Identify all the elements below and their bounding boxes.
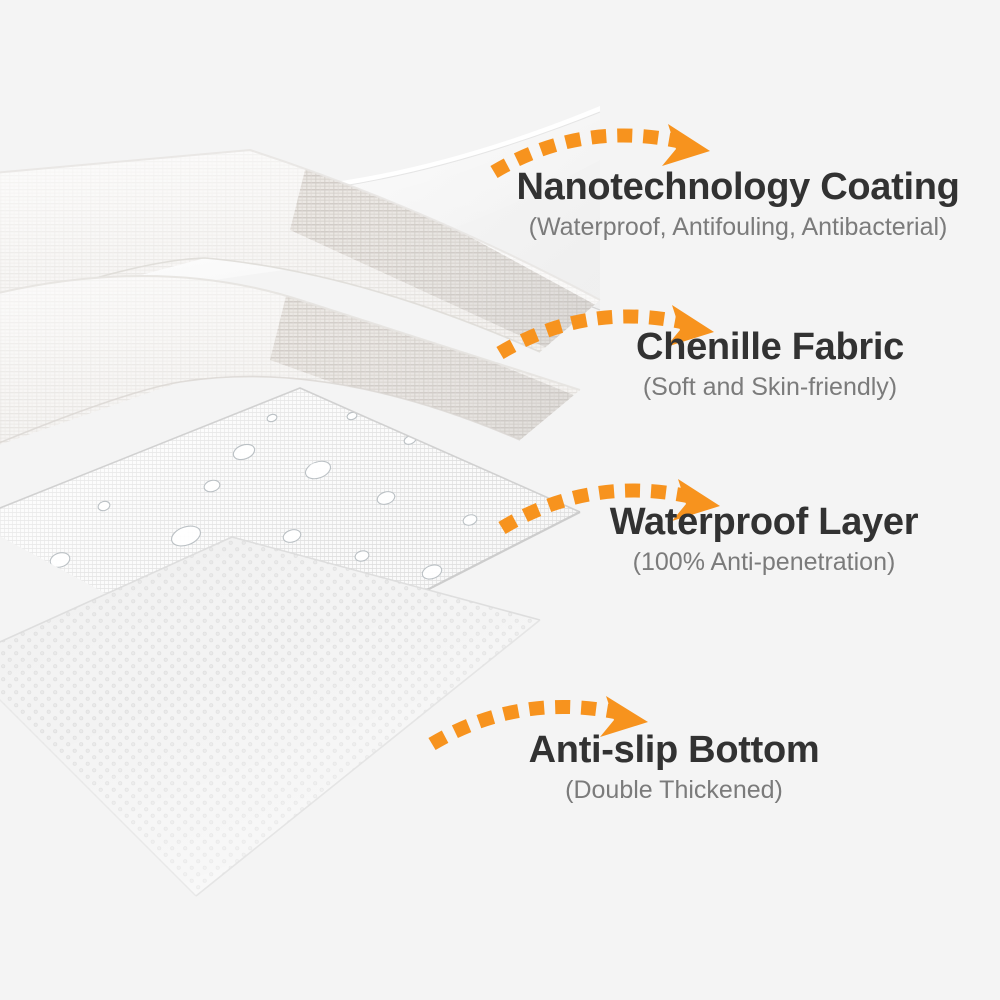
annotation-waterproof-layer: Waterproof Layer (100% Anti-penetration) (578, 503, 950, 576)
annotation-nanotechnology-coating: Nanotechnology Coating (Waterproof, Anti… (478, 168, 998, 241)
annotation-subtitle: (Double Thickened) (500, 777, 848, 805)
annotation-title: Waterproof Layer (578, 503, 950, 543)
annotation-title: Nanotechnology Coating (478, 168, 998, 208)
annotation-chenille-fabric: Chenille Fabric (Soft and Skin-friendly) (600, 328, 940, 401)
annotation-subtitle: (100% Anti-penetration) (578, 549, 950, 577)
product-feature-infographic: Nanotechnology Coating (Waterproof, Anti… (0, 0, 1000, 1000)
annotation-title: Chenille Fabric (600, 328, 940, 368)
annotation-subtitle: (Waterproof, Antifouling, Antibacterial) (478, 214, 998, 242)
annotation-antislip-bottom: Anti-slip Bottom (Double Thickened) (500, 731, 848, 804)
annotation-subtitle: (Soft and Skin-friendly) (600, 374, 940, 402)
annotation-title: Anti-slip Bottom (500, 731, 848, 771)
